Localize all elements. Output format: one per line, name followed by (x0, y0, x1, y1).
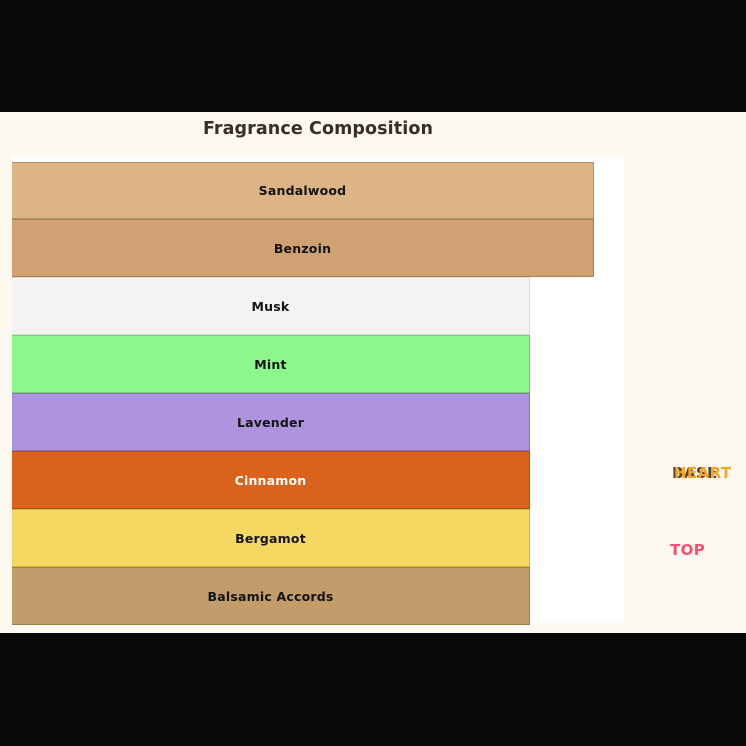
bar-cinnamon[interactable]: Cinnamon (12, 451, 530, 509)
bar-label: Mint (254, 357, 286, 372)
plot-area: SandalwoodBenzoinMuskMintLavenderCinnamo… (12, 157, 624, 623)
top-letterbox (0, 0, 746, 112)
stage-label-heart: HEART (674, 464, 732, 482)
bar-benzoin[interactable]: Benzoin (12, 219, 594, 277)
bar-balsamic-accords[interactable]: Balsamic Accords (12, 567, 530, 625)
bar-musk[interactable]: Musk (12, 277, 530, 335)
bar-mint[interactable]: Mint (12, 335, 530, 393)
bar-lavender[interactable]: Lavender (12, 393, 530, 451)
screenshot-root: Fragrance Composition SandalwoodBenzoinM… (0, 0, 746, 746)
bar-label: Sandalwood (259, 183, 347, 198)
bar-sandalwood[interactable]: Sandalwood (12, 162, 594, 219)
chart-title: Fragrance Composition (0, 119, 636, 139)
stage-label-top: TOP (670, 541, 705, 559)
bar-label: Musk (252, 299, 290, 314)
bar-label: Cinnamon (235, 473, 307, 488)
bar-label: Benzoin (274, 241, 331, 256)
bar-bergamot[interactable]: Bergamot (12, 509, 530, 567)
bar-label: Bergamot (235, 531, 306, 546)
bar-label: Lavender (237, 415, 304, 430)
figure-canvas: Fragrance Composition SandalwoodBenzoinM… (0, 112, 746, 633)
bottom-letterbox (0, 633, 746, 746)
bar-label: Balsamic Accords (207, 589, 333, 604)
